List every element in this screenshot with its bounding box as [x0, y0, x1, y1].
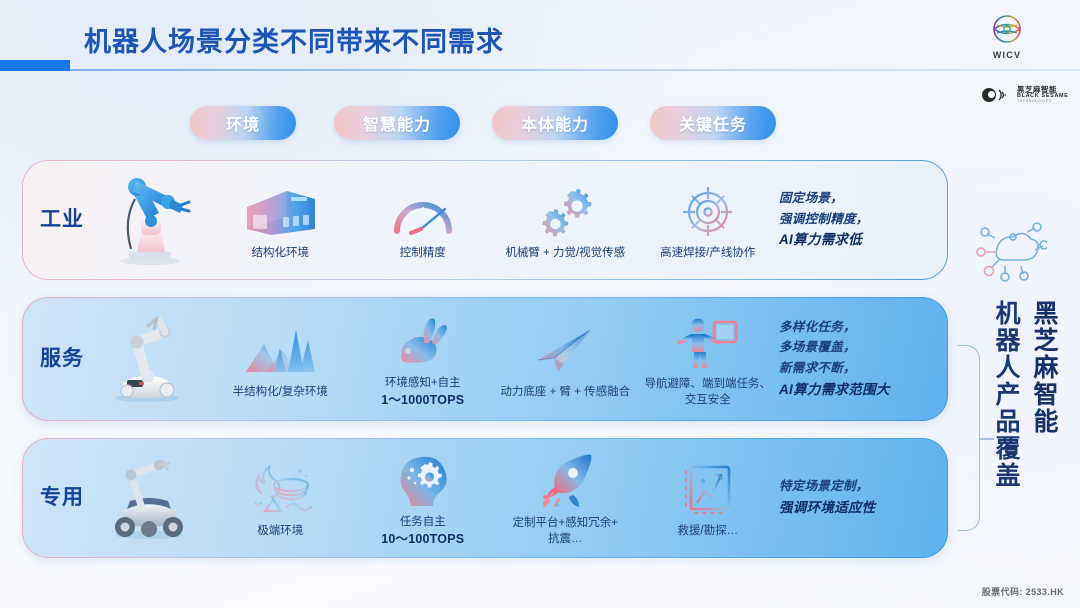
summary-line: AI算力需求范围大 [779, 382, 939, 399]
service-robot-photo [91, 298, 209, 420]
cell-extreme-environment[interactable]: 极端环境 [209, 439, 352, 557]
rocket-icon [535, 447, 595, 509]
vertical-title-main: 黑芝麻智能 [1026, 300, 1062, 489]
summary-line: 强调环境适应性 [779, 500, 939, 517]
chart-rescue-icon [681, 455, 735, 517]
special-cells: 极端环境 任务自主10～10 [209, 439, 779, 557]
pill-environment[interactable]: 环境 [190, 106, 296, 140]
page-header: 机器人场景分类不同带来不同需求 WICV [0, 0, 1080, 78]
network-nodes-icon [975, 222, 1047, 289]
cell-welding-collaboration[interactable]: 高速焊接/产线协作 [637, 161, 780, 279]
summary-line: 新需求不断， [779, 361, 939, 377]
paper-plane-icon [534, 316, 596, 378]
pill-key-task[interactable]: 关键任务 [650, 106, 776, 140]
rabbit-icon [394, 307, 452, 369]
mountains-trees-icon [244, 316, 316, 378]
header-divider [70, 69, 1080, 71]
cell-caption: 动力底座 + 臂 + 传感融合 [500, 385, 630, 401]
summary-line: 固定场景， [779, 191, 939, 207]
cell-caption: 救援/勘探… [677, 524, 738, 540]
cell-rescue-exploration[interactable]: 救援/勘探… [637, 439, 780, 557]
cell-perception-autonomy[interactable]: 环境感知+自主1～1000TOPS [352, 298, 495, 420]
right-vertical-title: 黑芝麻智能 机器人产品覆盖 [988, 300, 1062, 489]
category-row-special[interactable]: 专用 [22, 438, 948, 558]
cell-caption: 机械臂 + 力觉/视觉传感 [505, 246, 625, 262]
cell-caption: 结构化环境 [252, 246, 310, 262]
summary-industrial: 固定场景， 强调控制精度， AI算力需求低 [779, 191, 947, 249]
summary-line: 特定场景定制， [779, 479, 939, 495]
person-screen-icon [676, 308, 740, 370]
cell-control-precision[interactable]: 控制精度 [352, 161, 495, 279]
cell-structured-environment[interactable]: 结构化环境 [209, 161, 352, 279]
page-title: 机器人场景分类不同带来不同需求 [84, 20, 504, 59]
head-gear-icon [395, 446, 451, 508]
fire-hazard-icon [243, 455, 317, 517]
category-pill-row: 环境 智慧能力 本体能力 关键任务 [0, 106, 960, 140]
brand-tagline: TECHNOLOGIES [1017, 100, 1069, 104]
industrial-cells: 结构化环境 控制精度 [209, 161, 779, 279]
summary-line: 多场景覆盖， [779, 340, 939, 356]
row-label-industrial: 工业 [23, 208, 91, 232]
gears-icon [536, 177, 594, 239]
black-sesame-emblem-icon [982, 86, 1012, 104]
cell-mobile-base-arm-fusion[interactable]: 动力底座 + 臂 + 传感融合 [494, 298, 637, 420]
cell-caption: 任务自主10～100TOPS [381, 515, 464, 548]
service-cells: 半结构化/复杂环境 环境感知+自主1～1000TOPS [209, 298, 779, 420]
target-icon [679, 177, 737, 239]
factory-icon [241, 177, 319, 239]
black-sesame-logo: 黑芝麻智能 BLACK SESAME TECHNOLOGIES [982, 86, 1069, 104]
cell-caption: 极端环境 [257, 524, 303, 540]
cell-caption: 定制平台+感知冗余+ 抗震… [513, 516, 618, 547]
wicv-logo: WICV [978, 14, 1036, 60]
summary-line: AI算力需求低 [779, 232, 939, 249]
cell-caption: 控制精度 [400, 246, 446, 262]
cell-custom-platform[interactable]: 定制平台+感知冗余+ 抗震… [494, 439, 637, 557]
cell-navigation-safety[interactable]: 导航避障、端到端任务、 交互安全 [637, 298, 780, 420]
wicv-logo-label: WICV [978, 50, 1036, 60]
summary-service: 多样化任务， 多场景覆盖， 新需求不断， AI算力需求范围大 [779, 320, 947, 399]
cell-caption: 环境感知+自主1～1000TOPS [381, 376, 464, 409]
row-label-service: 服务 [23, 347, 91, 371]
pill-intelligence[interactable]: 智慧能力 [334, 106, 460, 140]
summary-line: 强调控制精度， [779, 212, 939, 228]
category-row-service[interactable]: 服务 [22, 297, 948, 421]
cell-semi-structured-environment[interactable]: 半结构化/复杂环境 [209, 298, 352, 420]
pill-body-capability[interactable]: 本体能力 [492, 106, 618, 140]
gauge-icon [391, 177, 455, 239]
wicv-emblem-icon [987, 14, 1027, 44]
cell-caption: 导航避障、端到端任务、 交互安全 [645, 377, 772, 408]
cell-task-autonomy[interactable]: 任务自主10～100TOPS [352, 439, 495, 557]
summary-special: 特定场景定制， 强调环境适应性 [779, 479, 947, 517]
stock-code-label: 股票代码: 2533.HK [982, 585, 1064, 598]
grouping-brace [958, 345, 980, 531]
row-label-special: 专用 [23, 486, 91, 510]
vertical-title-sub: 机器人产品覆盖 [988, 300, 1024, 489]
cell-caption: 高速焊接/产线协作 [660, 246, 755, 262]
rover-robot-photo [91, 439, 209, 557]
industrial-robot-arm-photo [91, 161, 209, 279]
title-accent-bar [0, 60, 70, 71]
cell-caption: 半结构化/复杂环境 [233, 385, 328, 401]
cell-arm-sensors[interactable]: 机械臂 + 力觉/视觉传感 [494, 161, 637, 279]
summary-line: 多样化任务， [779, 320, 939, 336]
category-row-industrial[interactable]: 工业 [22, 160, 948, 280]
